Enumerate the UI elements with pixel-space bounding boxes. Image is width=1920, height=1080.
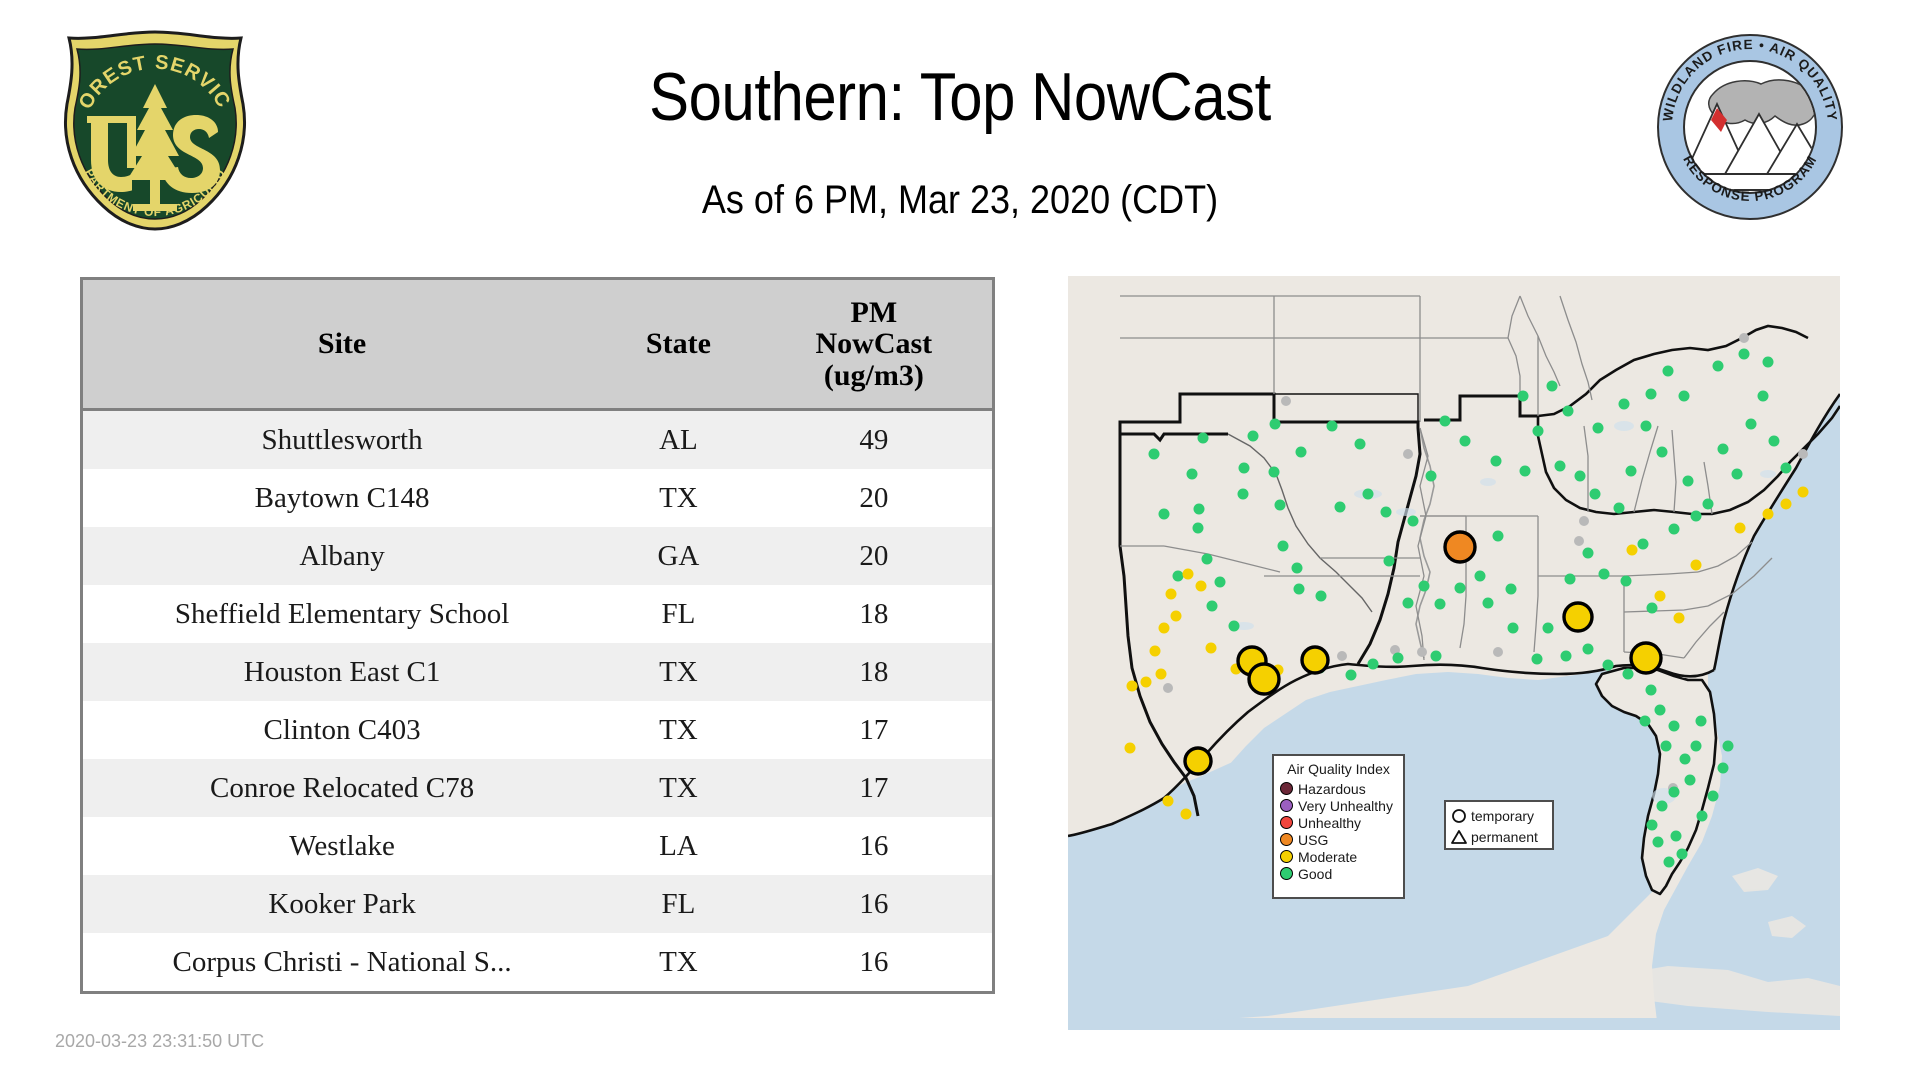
map-site-marker-moderate	[1125, 743, 1136, 754]
map-site-marker-good	[1691, 511, 1702, 522]
cell-site: Sheffield Elementary School	[83, 585, 601, 643]
table-row[interactable]: Houston East C1TX18	[83, 643, 992, 701]
map-site-marker-inactive	[1739, 333, 1749, 343]
map-site-marker-good	[1679, 391, 1690, 402]
map-site-marker-highlighted[interactable]	[1631, 643, 1661, 673]
map-site-marker-good	[1669, 524, 1680, 535]
map-site-marker-good	[1248, 431, 1259, 442]
cell-state: AL	[601, 410, 756, 470]
cell-pm-nowcast: 18	[756, 585, 992, 643]
map-site-marker-good	[1173, 571, 1184, 582]
map-site-marker-moderate	[1141, 677, 1152, 688]
map-site-marker-good	[1207, 601, 1218, 612]
map-site-marker-good	[1713, 361, 1724, 372]
map-site-marker-good	[1619, 399, 1630, 410]
map-site-marker-good	[1746, 419, 1757, 430]
map-site-marker-inactive	[1574, 536, 1584, 546]
cell-site: Shuttlesworth	[83, 410, 601, 470]
map-site-marker-moderate	[1150, 646, 1161, 657]
map-site-marker-inactive	[1281, 396, 1291, 406]
map-site-marker-good	[1691, 741, 1702, 752]
map-site-marker-good	[1520, 466, 1531, 477]
aqi-legend-label: Unhealthy	[1298, 816, 1361, 830]
map-site-marker-highlighted[interactable]	[1302, 647, 1328, 673]
aqi-legend-label: Moderate	[1298, 850, 1357, 864]
map-site-marker-good	[1718, 444, 1729, 455]
map-site-marker-good	[1575, 471, 1586, 482]
map-site-marker-highlighted[interactable]	[1445, 532, 1475, 562]
map-site-marker-good	[1381, 507, 1392, 518]
map-site-marker-good	[1419, 581, 1430, 592]
map-site-marker-good	[1647, 820, 1658, 831]
map-site-marker-moderate	[1655, 591, 1666, 602]
aqi-legend-row: Unhealthy	[1280, 814, 1397, 831]
map-site-marker-highlighted[interactable]	[1249, 664, 1279, 694]
site-type-legend: temporary permanent	[1444, 800, 1554, 850]
map-site-marker-inactive	[1417, 647, 1427, 657]
map-site-marker-good	[1732, 469, 1743, 480]
map-site-marker-moderate	[1171, 611, 1182, 622]
column-header-state[interactable]: State	[601, 280, 756, 410]
map-site-marker-good	[1640, 716, 1651, 727]
cell-pm-nowcast: 20	[756, 527, 992, 585]
map-site-marker-moderate	[1127, 681, 1138, 692]
map-site-marker-good	[1278, 541, 1289, 552]
aqi-legend-title: Air Quality Index	[1280, 761, 1397, 777]
cell-state: FL	[601, 585, 756, 643]
map-site-marker-inactive	[1337, 651, 1347, 661]
forest-service-logo: FOREST SERVICE DEPARTMENT OF AGRICULTURE	[55, 28, 255, 233]
page-title: Southern: Top NowCast	[379, 58, 1541, 136]
cell-pm-nowcast: 16	[756, 817, 992, 875]
table-row[interactable]: Corpus Christi - National S...TX16	[83, 933, 992, 991]
map-site-marker-moderate	[1196, 581, 1207, 592]
map-site-marker-good	[1703, 499, 1714, 510]
aqi-legend-label: Good	[1298, 867, 1332, 881]
map-site-marker-good	[1769, 436, 1780, 447]
map-site-marker-moderate	[1181, 809, 1192, 820]
cell-pm-nowcast: 16	[756, 933, 992, 991]
map-site-marker-good	[1493, 531, 1504, 542]
table-row[interactable]: ShuttlesworthAL49	[83, 410, 992, 470]
map-site-marker-inactive	[1163, 683, 1173, 693]
map-site-marker-good	[1533, 426, 1544, 437]
map-site-marker-good	[1677, 849, 1688, 860]
map-site-marker-good	[1292, 563, 1303, 574]
map-site-marker-moderate	[1627, 545, 1638, 556]
map-site-marker-good	[1603, 660, 1614, 671]
column-header-pm-line-3: (ug/m3)	[760, 360, 988, 392]
column-header-site-label: Site	[318, 327, 366, 360]
map-site-marker-moderate	[1735, 523, 1746, 534]
map-site-marker-good	[1368, 659, 1379, 670]
map-site-marker-good	[1506, 584, 1517, 595]
aqi-legend-label: USG	[1298, 833, 1328, 847]
map-site-marker-good	[1653, 837, 1664, 848]
map-site-marker-good	[1483, 598, 1494, 609]
map-site-marker-good	[1685, 775, 1696, 786]
cell-pm-nowcast: 16	[756, 875, 992, 933]
cell-site: Houston East C1	[83, 643, 601, 701]
map-site-marker-good	[1647, 603, 1658, 614]
map-site-marker-highlighted[interactable]	[1564, 603, 1592, 631]
map-site-marker-good	[1198, 433, 1209, 444]
map-site-marker-inactive	[1579, 516, 1589, 526]
map-site-marker-good	[1294, 584, 1305, 595]
map-site-marker-good	[1193, 523, 1204, 534]
map-site-marker-good	[1316, 591, 1327, 602]
table-row[interactable]: Sheffield Elementary SchoolFL18	[83, 585, 992, 643]
map-site-marker-good	[1275, 500, 1286, 511]
cell-state: TX	[601, 759, 756, 817]
map-site-marker-good	[1202, 554, 1213, 565]
map-site-marker-good	[1781, 463, 1792, 474]
map-site-marker-good	[1683, 476, 1694, 487]
nowcast-table: Site State PM NowCast (ug/m3) Shuttleswo…	[80, 277, 995, 994]
aqi-legend-row: Very Unhealthy	[1280, 797, 1397, 814]
map-site-marker-good	[1435, 599, 1446, 610]
map-site-marker-good	[1543, 623, 1554, 634]
map-site-marker-good	[1661, 741, 1672, 752]
map-site-marker-good	[1669, 787, 1680, 798]
aqi-legend-row: Good	[1280, 865, 1397, 882]
cell-site: Baytown C148	[83, 469, 601, 527]
column-header-state-label: State	[646, 327, 711, 360]
triangle-marker-icon	[1450, 828, 1468, 846]
aqi-legend-swatch-icon	[1280, 799, 1293, 812]
map-site-marker-good	[1623, 669, 1634, 680]
map-site-marker-good	[1561, 651, 1572, 662]
map-site-marker-good	[1194, 504, 1205, 515]
map-site-marker-good	[1384, 556, 1395, 567]
aqi-legend-row: Hazardous	[1280, 780, 1397, 797]
aqi-legend: Air Quality Index HazardousVery Unhealth…	[1272, 754, 1405, 899]
aqi-legend-label: Hazardous	[1298, 782, 1366, 796]
map-site-marker-good	[1346, 670, 1357, 681]
cell-pm-nowcast: 18	[756, 643, 992, 701]
map-site-marker-good	[1159, 509, 1170, 520]
page-subtitle: As of 6 PM, Mar 23, 2020 (CDT)	[366, 178, 1554, 223]
map-site-marker-good	[1708, 791, 1719, 802]
cell-state: LA	[601, 817, 756, 875]
wildland-fire-air-quality-logo: WILDLAND FIRE • AIR QUALITY RESPONSE PRO…	[1655, 32, 1845, 222]
aqi-legend-swatch-icon	[1280, 816, 1293, 829]
map-site-marker-good	[1270, 419, 1281, 430]
map-site-marker-good	[1491, 456, 1502, 467]
cell-state: FL	[601, 875, 756, 933]
table-row[interactable]: Baytown C148TX20	[83, 469, 992, 527]
map-site-marker-good	[1669, 721, 1680, 732]
table-row[interactable]: WestlakeLA16	[83, 817, 992, 875]
map-site-marker-good	[1723, 741, 1734, 752]
site-type-legend-row-permanent: permanent	[1450, 826, 1548, 847]
map-site-marker-good	[1238, 489, 1249, 500]
cell-state: TX	[601, 701, 756, 759]
site-type-legend-row-temporary: temporary	[1450, 805, 1548, 826]
generated-timestamp: 2020-03-23 23:31:50 UTC	[55, 1031, 264, 1052]
table-row[interactable]: Kooker ParkFL16	[83, 875, 992, 933]
cell-site: Kooker Park	[83, 875, 601, 933]
map-site-marker-good	[1296, 447, 1307, 458]
map-site-marker-good	[1696, 716, 1707, 727]
map-site-marker-good	[1614, 503, 1625, 514]
map-site-marker-good	[1663, 366, 1674, 377]
map-site-marker-moderate	[1206, 643, 1217, 654]
map-site-marker-good	[1335, 502, 1346, 513]
circle-marker-icon	[1450, 807, 1468, 825]
map-site-marker-good	[1563, 406, 1574, 417]
site-type-legend-label-permanent: permanent	[1471, 830, 1538, 844]
map-site-marker-good	[1583, 548, 1594, 559]
map-site-marker-good	[1739, 349, 1750, 360]
map-site-marker-good	[1599, 569, 1610, 580]
map-site-marker-good	[1655, 705, 1666, 716]
cell-pm-nowcast: 49	[756, 410, 992, 470]
cell-site: Albany	[83, 527, 601, 585]
map-site-marker-good	[1621, 576, 1632, 587]
map-site-marker-good	[1718, 763, 1729, 774]
cell-state: TX	[601, 643, 756, 701]
map-site-marker-good	[1355, 439, 1366, 450]
column-header-pm-nowcast[interactable]: PM NowCast (ug/m3)	[756, 280, 992, 410]
cell-state: TX	[601, 469, 756, 527]
cell-site: Conroe Relocated C78	[83, 759, 601, 817]
map-site-marker-inactive	[1403, 449, 1413, 459]
map-site-marker-good	[1657, 801, 1668, 812]
map-site-marker-good	[1460, 436, 1471, 447]
column-header-site[interactable]: Site	[83, 280, 601, 410]
map-site-marker-good	[1697, 811, 1708, 822]
map-site-marker-good	[1269, 467, 1280, 478]
map-site-marker-moderate	[1781, 499, 1792, 510]
map-site-marker-moderate	[1159, 623, 1170, 634]
aqi-legend-row: USG	[1280, 831, 1397, 848]
column-header-pm-line-2: NowCast	[760, 328, 988, 360]
map-site-marker-moderate	[1691, 560, 1702, 571]
map-site-marker-moderate	[1163, 796, 1174, 807]
map-site-marker-good	[1555, 461, 1566, 472]
cell-pm-nowcast: 17	[756, 759, 992, 817]
map-site-marker-good	[1508, 623, 1519, 634]
map-site-marker-good	[1393, 653, 1404, 664]
map-site-marker-moderate	[1166, 589, 1177, 600]
map-site-marker-good	[1215, 577, 1226, 588]
southern-region-map[interactable]	[1068, 276, 1840, 1030]
cell-state: GA	[601, 527, 756, 585]
map-site-marker-good	[1626, 466, 1637, 477]
site-type-legend-label-temporary: temporary	[1471, 809, 1534, 823]
aqi-legend-swatch-icon	[1280, 782, 1293, 795]
aqi-legend-label: Very Unhealthy	[1298, 799, 1393, 813]
map-site-marker-good	[1532, 654, 1543, 665]
cell-pm-nowcast: 20	[756, 469, 992, 527]
map-site-marker-good	[1455, 583, 1466, 594]
cell-site: Corpus Christi - National S...	[83, 933, 601, 991]
map-site-marker-moderate	[1183, 569, 1194, 580]
map-site-marker-moderate	[1674, 613, 1685, 624]
map-site-marker-good	[1475, 571, 1486, 582]
map-site-marker-good	[1426, 471, 1437, 482]
cell-site: Clinton C403	[83, 701, 601, 759]
map-site-marker-moderate	[1156, 669, 1167, 680]
map-site-marker-good	[1403, 598, 1414, 609]
map-site-marker-good	[1239, 463, 1250, 474]
map-site-marker-good	[1646, 389, 1657, 400]
map-site-marker-good	[1641, 421, 1652, 432]
map-site-marker-good	[1671, 831, 1682, 842]
column-header-pm-line-1: PM	[760, 297, 988, 329]
map-site-marker-good	[1590, 489, 1601, 500]
map-site-marker-good	[1547, 381, 1558, 392]
cell-pm-nowcast: 17	[756, 701, 992, 759]
map-site-marker-good	[1758, 391, 1769, 402]
table-header-row: Site State PM NowCast (ug/m3)	[83, 280, 992, 410]
map-site-marker-good	[1363, 489, 1374, 500]
aqi-legend-row: Moderate	[1280, 848, 1397, 865]
map-site-marker-good	[1638, 539, 1649, 550]
aqi-legend-swatch-icon	[1280, 867, 1293, 880]
map-site-marker-good	[1440, 416, 1451, 427]
aqi-legend-swatch-icon	[1280, 833, 1293, 846]
map-site-marker-good	[1431, 651, 1442, 662]
map-site-marker-good	[1657, 447, 1668, 458]
map-site-marker-good	[1408, 516, 1419, 527]
map-site-marker-good	[1187, 469, 1198, 480]
map-site-marker-good	[1664, 857, 1675, 868]
map-site-marker-good	[1763, 357, 1774, 368]
map-site-marker-good	[1518, 391, 1529, 402]
map-site-marker-inactive	[1493, 647, 1503, 657]
cell-state: TX	[601, 933, 756, 991]
map-site-marker-moderate	[1798, 487, 1809, 498]
map-site-marker-moderate	[1763, 509, 1774, 520]
table-row[interactable]: AlbanyGA20	[83, 527, 992, 585]
map-site-marker-good	[1327, 421, 1338, 432]
map-site-marker-good	[1680, 754, 1691, 765]
table-row[interactable]: Clinton C403TX17	[83, 701, 992, 759]
map-site-marker-good	[1583, 644, 1594, 655]
map-site-marker-good	[1149, 449, 1160, 460]
map-site-marker-highlighted[interactable]	[1185, 748, 1211, 774]
map-site-marker-good	[1593, 423, 1604, 434]
cell-site: Westlake	[83, 817, 601, 875]
table-row[interactable]: Conroe Relocated C78TX17	[83, 759, 992, 817]
map-site-marker-good	[1646, 685, 1657, 696]
map-site-marker-good	[1565, 574, 1576, 585]
aqi-legend-swatch-icon	[1280, 850, 1293, 863]
map-site-marker-good	[1229, 621, 1240, 632]
map-site-marker-inactive	[1798, 449, 1808, 459]
